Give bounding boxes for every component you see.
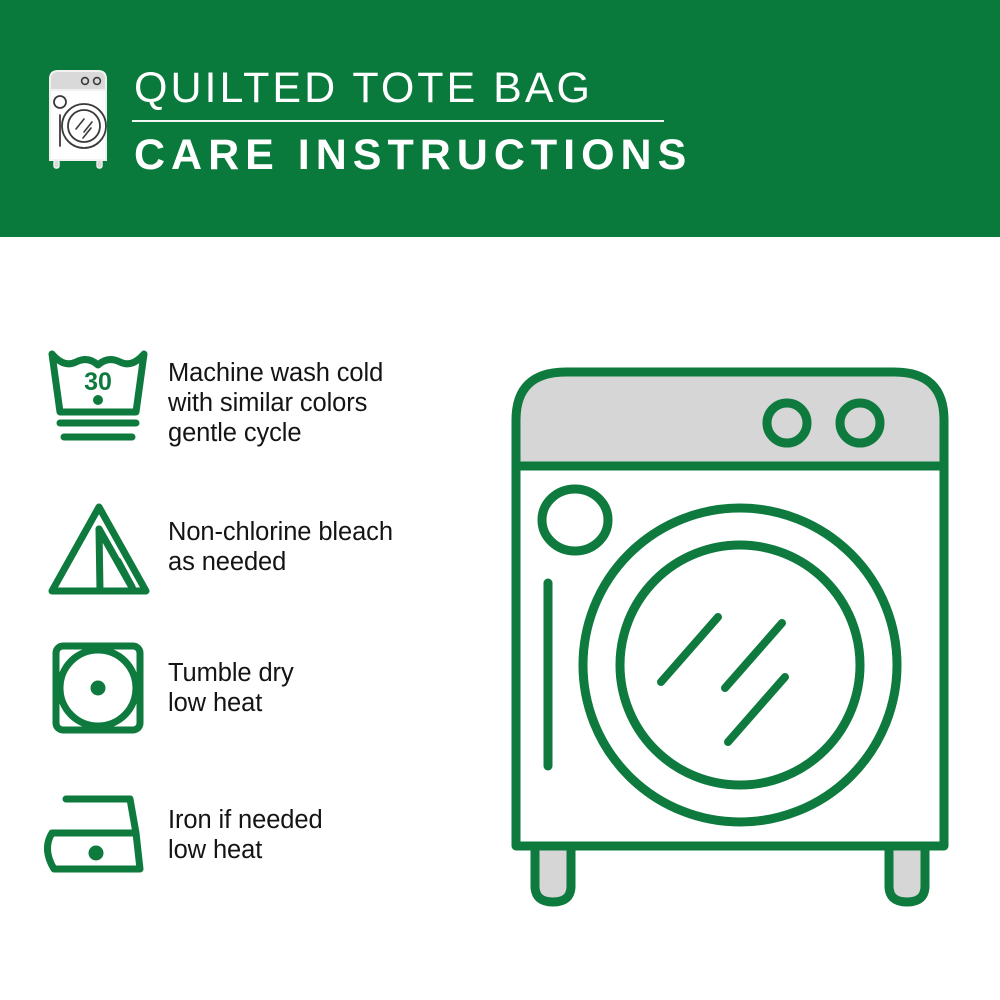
care-text-line: Machine wash cold xyxy=(168,358,474,388)
tumble-dry-icon xyxy=(44,634,168,742)
care-text-line: Iron if needed xyxy=(168,805,474,835)
care-text-bleach: Non-chlorine bleach as needed xyxy=(168,515,474,577)
iron-icon xyxy=(44,783,168,891)
care-text-machine-wash: Machine wash cold with similar colors ge… xyxy=(168,356,474,448)
wash-temperature-label: 30 xyxy=(84,368,112,396)
washing-machine-icon xyxy=(44,66,112,170)
care-text-line: low heat xyxy=(168,835,474,865)
care-text-line: gentle cycle xyxy=(168,418,474,448)
care-text-line: Non-chlorine bleach xyxy=(168,517,474,547)
header-title-group: QUILTED TOTE BAG CARE INSTRUCTIONS xyxy=(132,62,692,182)
washing-machine-illustration xyxy=(490,330,970,930)
care-row-iron: Iron if needed low heat xyxy=(44,765,474,905)
care-text-line: as needed xyxy=(168,547,474,577)
header-content: QUILTED TOTE BAG CARE INSTRUCTIONS xyxy=(44,62,692,182)
care-row-bleach: Non-chlorine bleach as needed xyxy=(44,479,474,622)
page-title: QUILTED TOTE BAG xyxy=(132,62,692,114)
care-text-iron: Iron if needed low heat xyxy=(168,803,474,865)
care-text-line: with similar colors xyxy=(168,388,474,418)
care-row-machine-wash: 30 Machine wash cold with similar colors… xyxy=(44,336,474,479)
care-instruction-list: 30 Machine wash cold with similar colors… xyxy=(44,336,474,905)
care-instructions-page: QUILTED TOTE BAG CARE INSTRUCTIONS 30 xyxy=(0,0,1000,1000)
bleach-triangle-icon xyxy=(44,495,168,603)
care-text-line: low heat xyxy=(168,688,474,718)
page-subtitle: CARE INSTRUCTIONS xyxy=(132,128,692,182)
care-text-tumble-dry: Tumble dry low heat xyxy=(168,656,474,718)
care-text-line: Tumble dry xyxy=(168,658,474,688)
title-divider xyxy=(132,120,664,122)
wash-tub-icon: 30 xyxy=(44,342,168,450)
care-row-tumble-dry: Tumble dry low heat xyxy=(44,622,474,765)
header-banner: QUILTED TOTE BAG CARE INSTRUCTIONS xyxy=(0,0,1000,237)
